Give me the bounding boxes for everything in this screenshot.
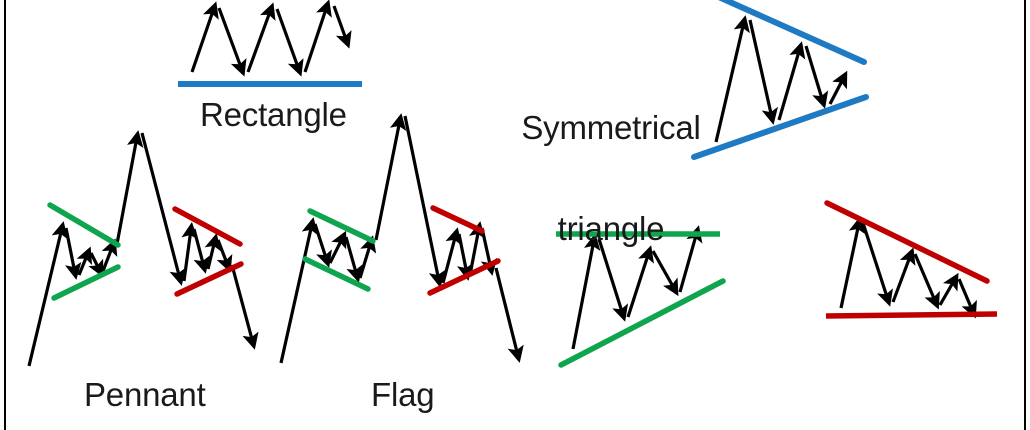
flag-price-path (281, 116, 518, 363)
label-ascending-triangle: Ascending triangle (572, 360, 734, 430)
descending-support-trendline (826, 314, 997, 316)
pattern-descending-triangle (826, 203, 997, 316)
rectangle-price-path (192, 6, 347, 72)
flag-bear-upper-trendline (433, 208, 482, 231)
label-descending-triangle: Descending triangle (836, 360, 1024, 430)
pattern-rectangle (178, 6, 362, 84)
chart-patterns-diagram: Rectangle Symmetrical triangle Pennant F… (0, 0, 1030, 430)
pattern-pennant (29, 133, 253, 366)
right-border-rule (1024, 0, 1026, 430)
label-symmetrical-triangle-line2: triangle (516, 212, 706, 246)
symmetrical-upper-trendline (712, 0, 864, 62)
descending-resistance-trendline (827, 203, 987, 281)
label-flag: Flag (371, 378, 434, 412)
pennant-price-path (29, 133, 253, 366)
symmetrical-price-path (716, 20, 844, 142)
pennant-bear-upper-trendline (175, 209, 240, 244)
label-rectangle: Rectangle (200, 98, 347, 132)
left-border-rule (4, 0, 6, 430)
pattern-symmetrical-triangle (694, 0, 866, 157)
label-symmetrical-triangle-line1: Symmetrical (516, 111, 706, 145)
flag-bull-lower-trendline (305, 259, 368, 289)
pattern-flag (281, 116, 518, 363)
pennant-bull-lower-trendline (54, 267, 118, 298)
label-symmetrical-triangle: Symmetrical triangle (516, 44, 706, 313)
label-pennant: Pennant (84, 378, 206, 412)
